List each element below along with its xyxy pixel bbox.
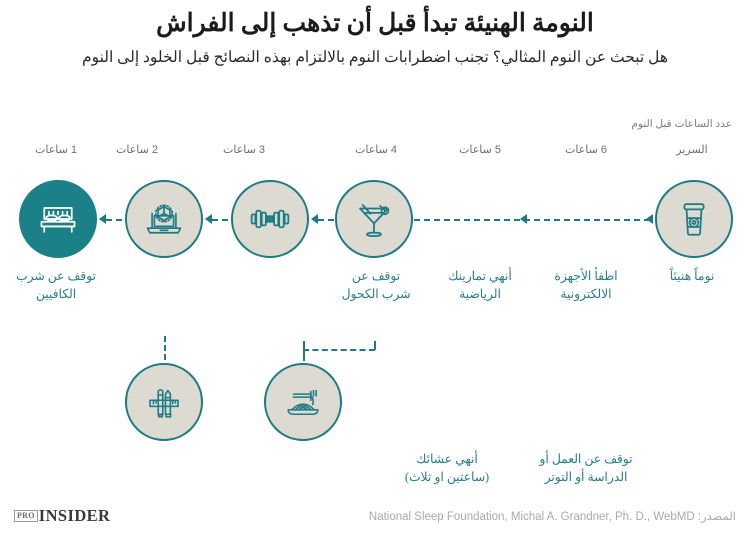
tick-label: 1 ساعات — [35, 143, 77, 156]
connector-line — [404, 219, 650, 221]
stage-caption-work: توقف عن العمل أو الدراسة أو التوتر — [526, 451, 646, 487]
stage-circle-caffeine[interactable] — [655, 180, 733, 258]
connector-arrow-icon — [520, 214, 527, 224]
tick-label: 5 ساعات — [459, 143, 501, 156]
header: النومة الهنيئة تبدأ قبل أن تذهب إلى الفر… — [0, 0, 750, 68]
stage-caption-line2: الالكترونية — [526, 286, 646, 304]
connector-line-vertical — [303, 349, 305, 361]
tick-label: 3 ساعات — [223, 143, 265, 156]
stage-caption-line1: توقف عن — [352, 269, 400, 283]
stage-caption-line1: توقف عن شرب الكافيين — [16, 269, 96, 301]
stage-caption-electronics: اطفأ الأجهزة الالكترونية — [526, 268, 646, 304]
stage-caption-line2: شرب الكحول — [316, 286, 436, 304]
stage-circle-electronics[interactable] — [125, 180, 203, 258]
axis-caption: عدد الساعات قبل النوم — [631, 118, 732, 130]
tick-label: السرير — [676, 143, 707, 156]
connector-bracket — [303, 349, 375, 351]
stage-caption-line2: (ساعتين او ثلاث) — [387, 469, 507, 487]
stage-caption-caffeine: توقف عن شرب الكافيين — [0, 268, 116, 304]
insider-pro-logo[interactable]: INSIDER PRO — [14, 506, 110, 526]
source-text: National Sleep Foundation, Michal A. Gra… — [369, 511, 695, 523]
stage-caption-line1: نوماً هنيئاً — [670, 269, 715, 283]
stage-caption-line1: أنهي عشائك — [416, 452, 478, 466]
stage-circle-alcohol[interactable] — [335, 180, 413, 258]
stage-circle-dinner[interactable] — [264, 363, 342, 441]
logo-wordmark: INSIDER — [39, 506, 111, 526]
stage-circle-bed[interactable] — [19, 180, 97, 258]
stage-caption-dinner: أنهي عشائك (ساعتين او ثلاث) — [387, 451, 507, 487]
stage-caption-line2: الدراسة أو التوتر — [526, 469, 646, 487]
source-label: المصدر: — [698, 511, 736, 523]
source-attribution: المصدر: National Sleep Foundation, Micha… — [369, 509, 736, 523]
connector-arrow-icon — [205, 214, 212, 224]
dumbbell-icon — [248, 197, 292, 241]
footer: INSIDER PRO المصدر: National Sleep Found… — [0, 496, 750, 540]
tick-label: 4 ساعات — [355, 143, 397, 156]
stage-circle-exercise[interactable] — [231, 180, 309, 258]
tick-label: 6 ساعات — [565, 143, 607, 156]
connector-line — [106, 219, 122, 221]
pasta-plate-icon — [282, 381, 324, 423]
stage-caption-bed: نوماً هنيئاً — [632, 268, 750, 286]
page-title: النومة الهنيئة تبدأ قبل أن تذهب إلى الفر… — [30, 8, 720, 39]
stage-caption-line1: أنهي تمارينك — [448, 269, 512, 283]
stage-caption-alcohol: توقف عن شرب الكحول — [316, 268, 436, 304]
stage-caption-line1: اطفأ الأجهزة — [554, 269, 617, 283]
connector-arrow-icon — [99, 214, 106, 224]
connector-line — [318, 219, 334, 221]
cocktail-glass-icon — [353, 198, 395, 240]
bed-icon — [36, 197, 80, 241]
laptop-icon — [142, 197, 186, 241]
connector-line-vertical — [164, 336, 166, 360]
study-tools-icon — [143, 381, 185, 423]
connector-arrow-icon — [646, 214, 653, 224]
stage-caption-line1: توقف عن العمل أو — [539, 452, 632, 466]
tick-label: 2 ساعات — [116, 143, 158, 156]
logo-pro-badge: PRO — [14, 510, 38, 522]
stage-circle-work[interactable] — [125, 363, 203, 441]
stage-caption-exercise: أنهي تمارينك الرياضية — [420, 268, 540, 304]
connector-arrow-icon — [311, 214, 318, 224]
stage-caption-line2: الرياضية — [420, 286, 540, 304]
coffee-cup-icon — [673, 198, 715, 240]
timeline-ticks: 1 ساعات 2 ساعات 3 ساعات 4 ساعات 5 ساعات … — [0, 143, 750, 161]
connector-bracket-tick — [374, 341, 376, 350]
page-subtitle: هل تبحث عن النوم المثالي؟ تجنب اضطرابات … — [15, 48, 735, 68]
connector-line — [212, 219, 228, 221]
